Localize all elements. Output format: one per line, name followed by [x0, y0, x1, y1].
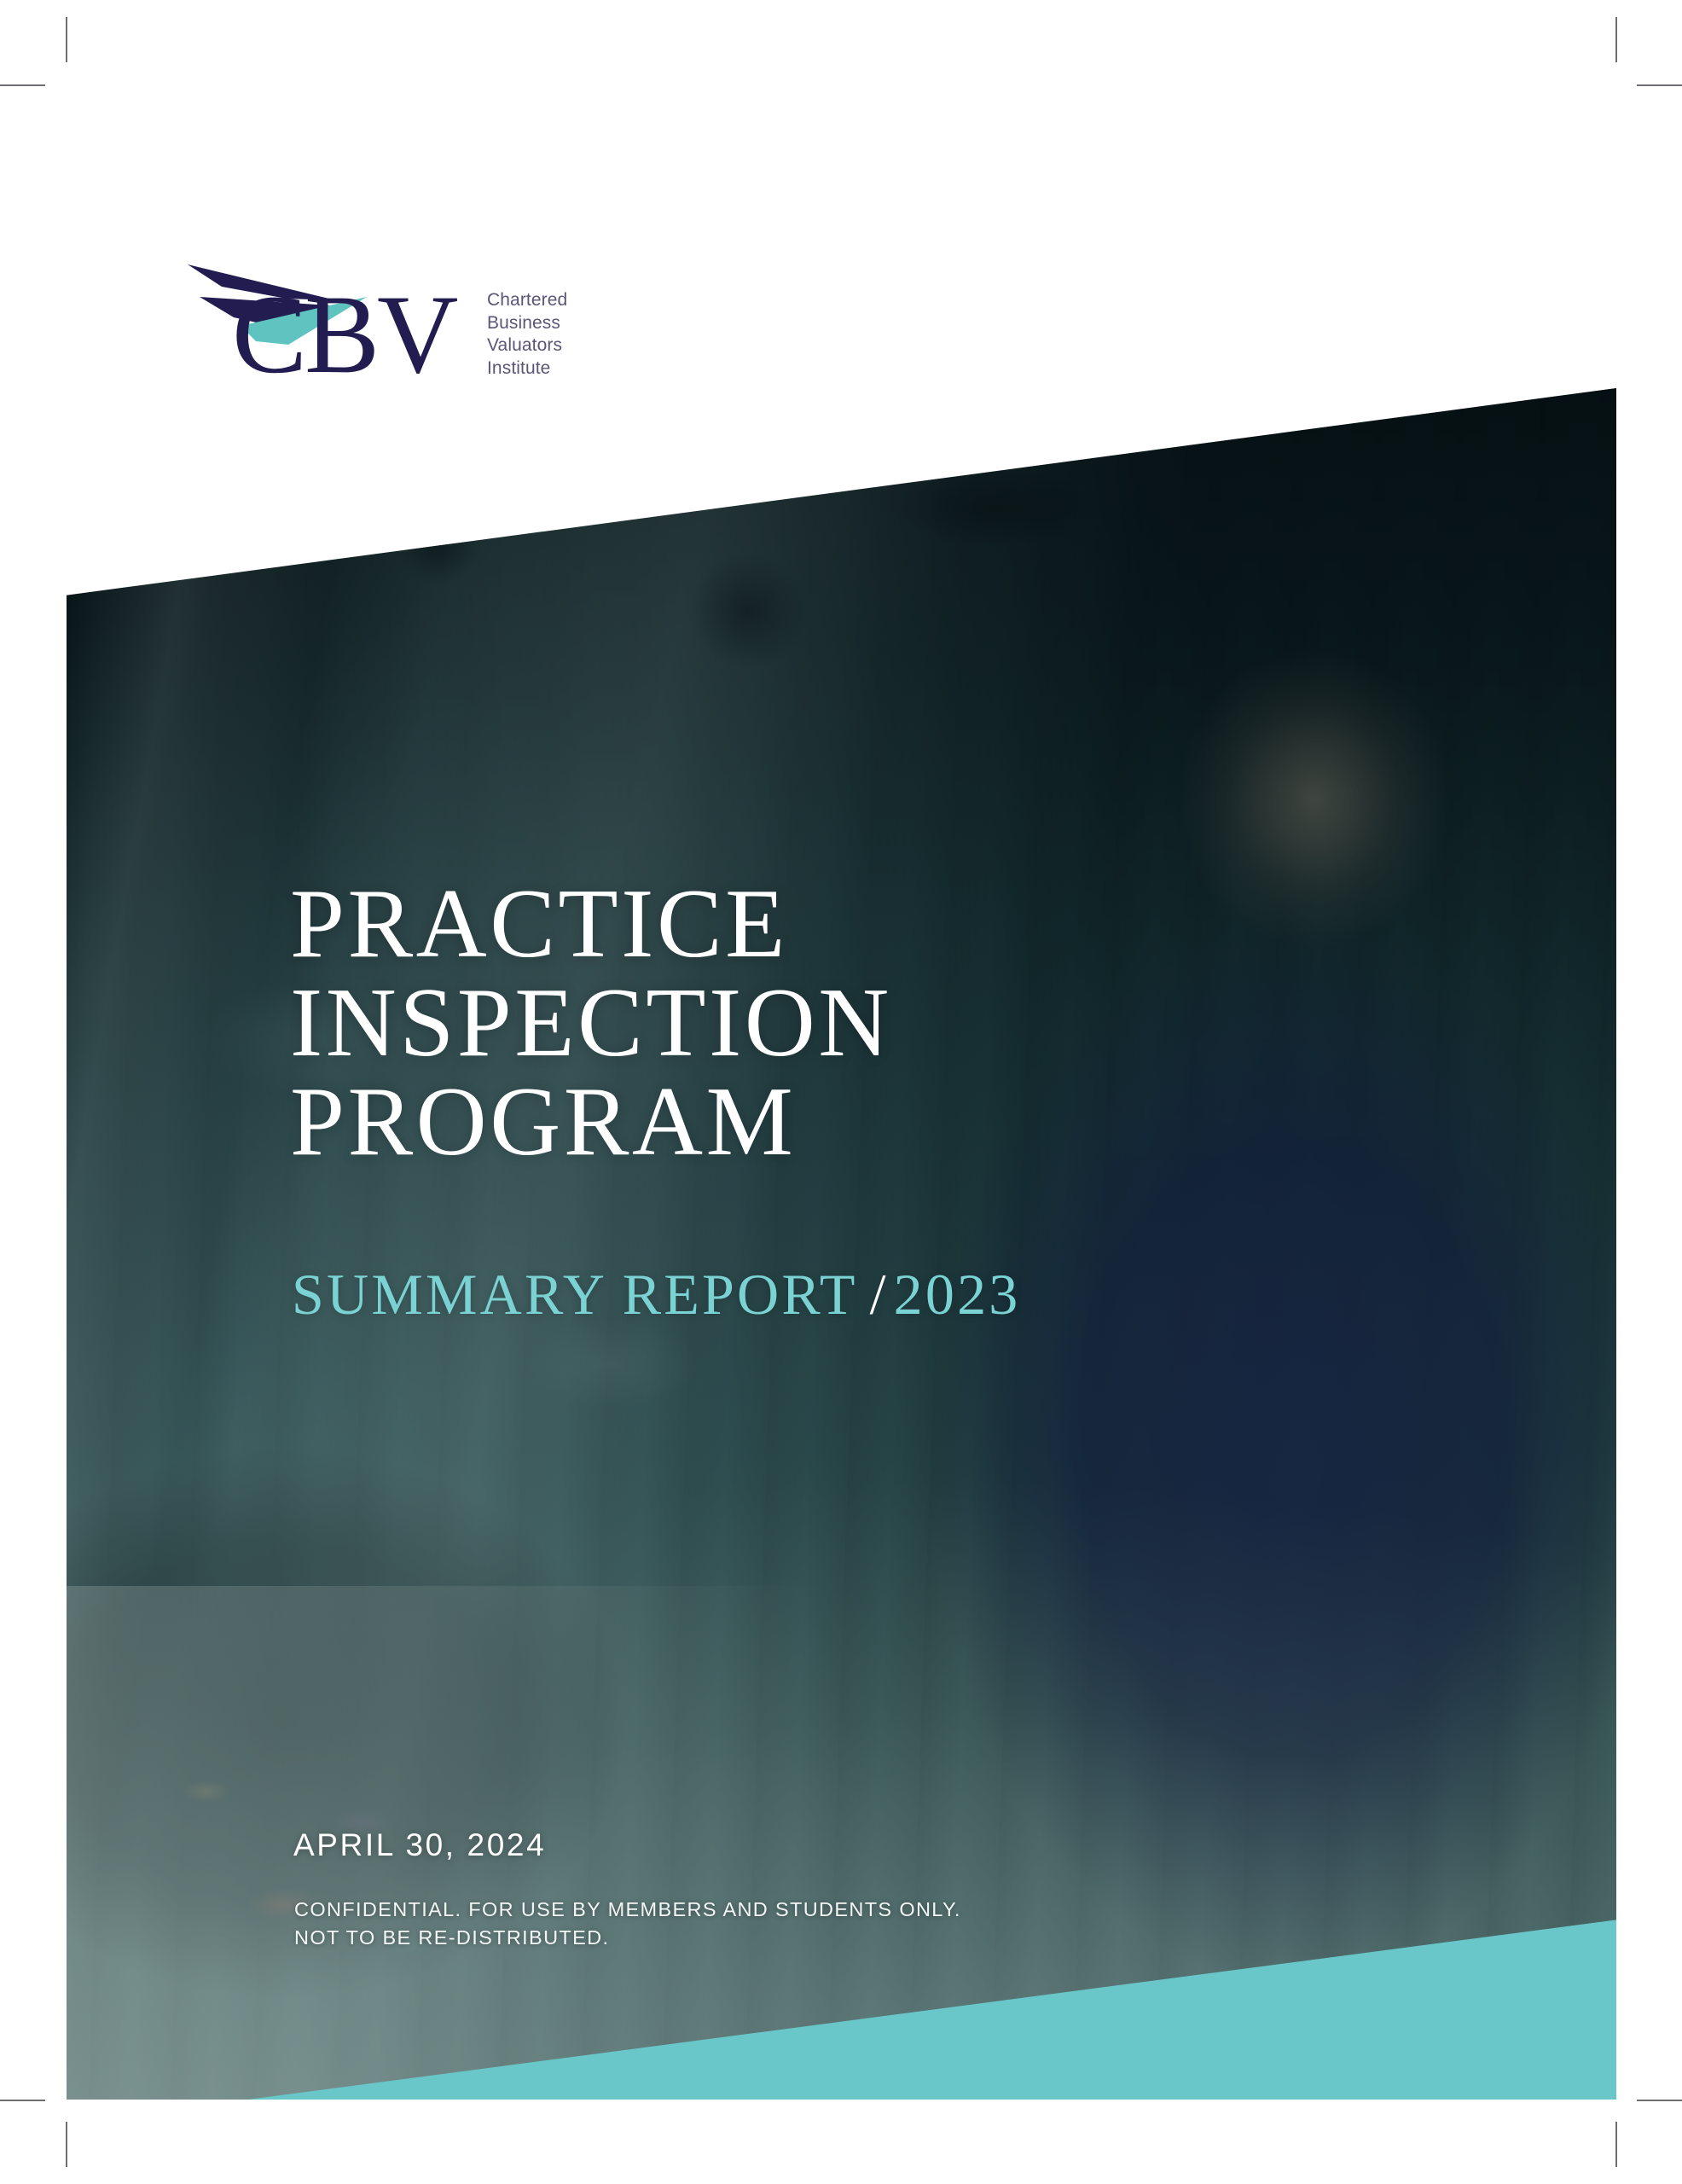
crop-mark-top-left-horizontal — [0, 84, 45, 86]
crop-mark-top-left-vertical — [66, 17, 67, 62]
crop-mark-top-right-vertical — [1615, 17, 1617, 62]
cover-photograph — [67, 388, 1616, 2100]
cbv-logo: CBV Chartered Business Valuators Institu… — [184, 253, 645, 406]
crop-mark-bottom-right-horizontal — [1637, 2100, 1682, 2101]
crop-mark-bottom-left-vertical — [66, 2122, 67, 2167]
cbv-tagline: Chartered Business Valuators Institute — [487, 289, 567, 380]
cbv-wordmark: CBV — [232, 278, 455, 391]
cover-page: CBV Chartered Business Valuators Institu… — [0, 0, 1682, 2184]
crop-mark-bottom-left-horizontal — [0, 2100, 45, 2101]
photo-teal-tint-overlay — [67, 388, 1616, 2100]
crop-mark-top-right-horizontal — [1637, 84, 1682, 86]
crop-mark-bottom-right-vertical — [1615, 2122, 1617, 2167]
